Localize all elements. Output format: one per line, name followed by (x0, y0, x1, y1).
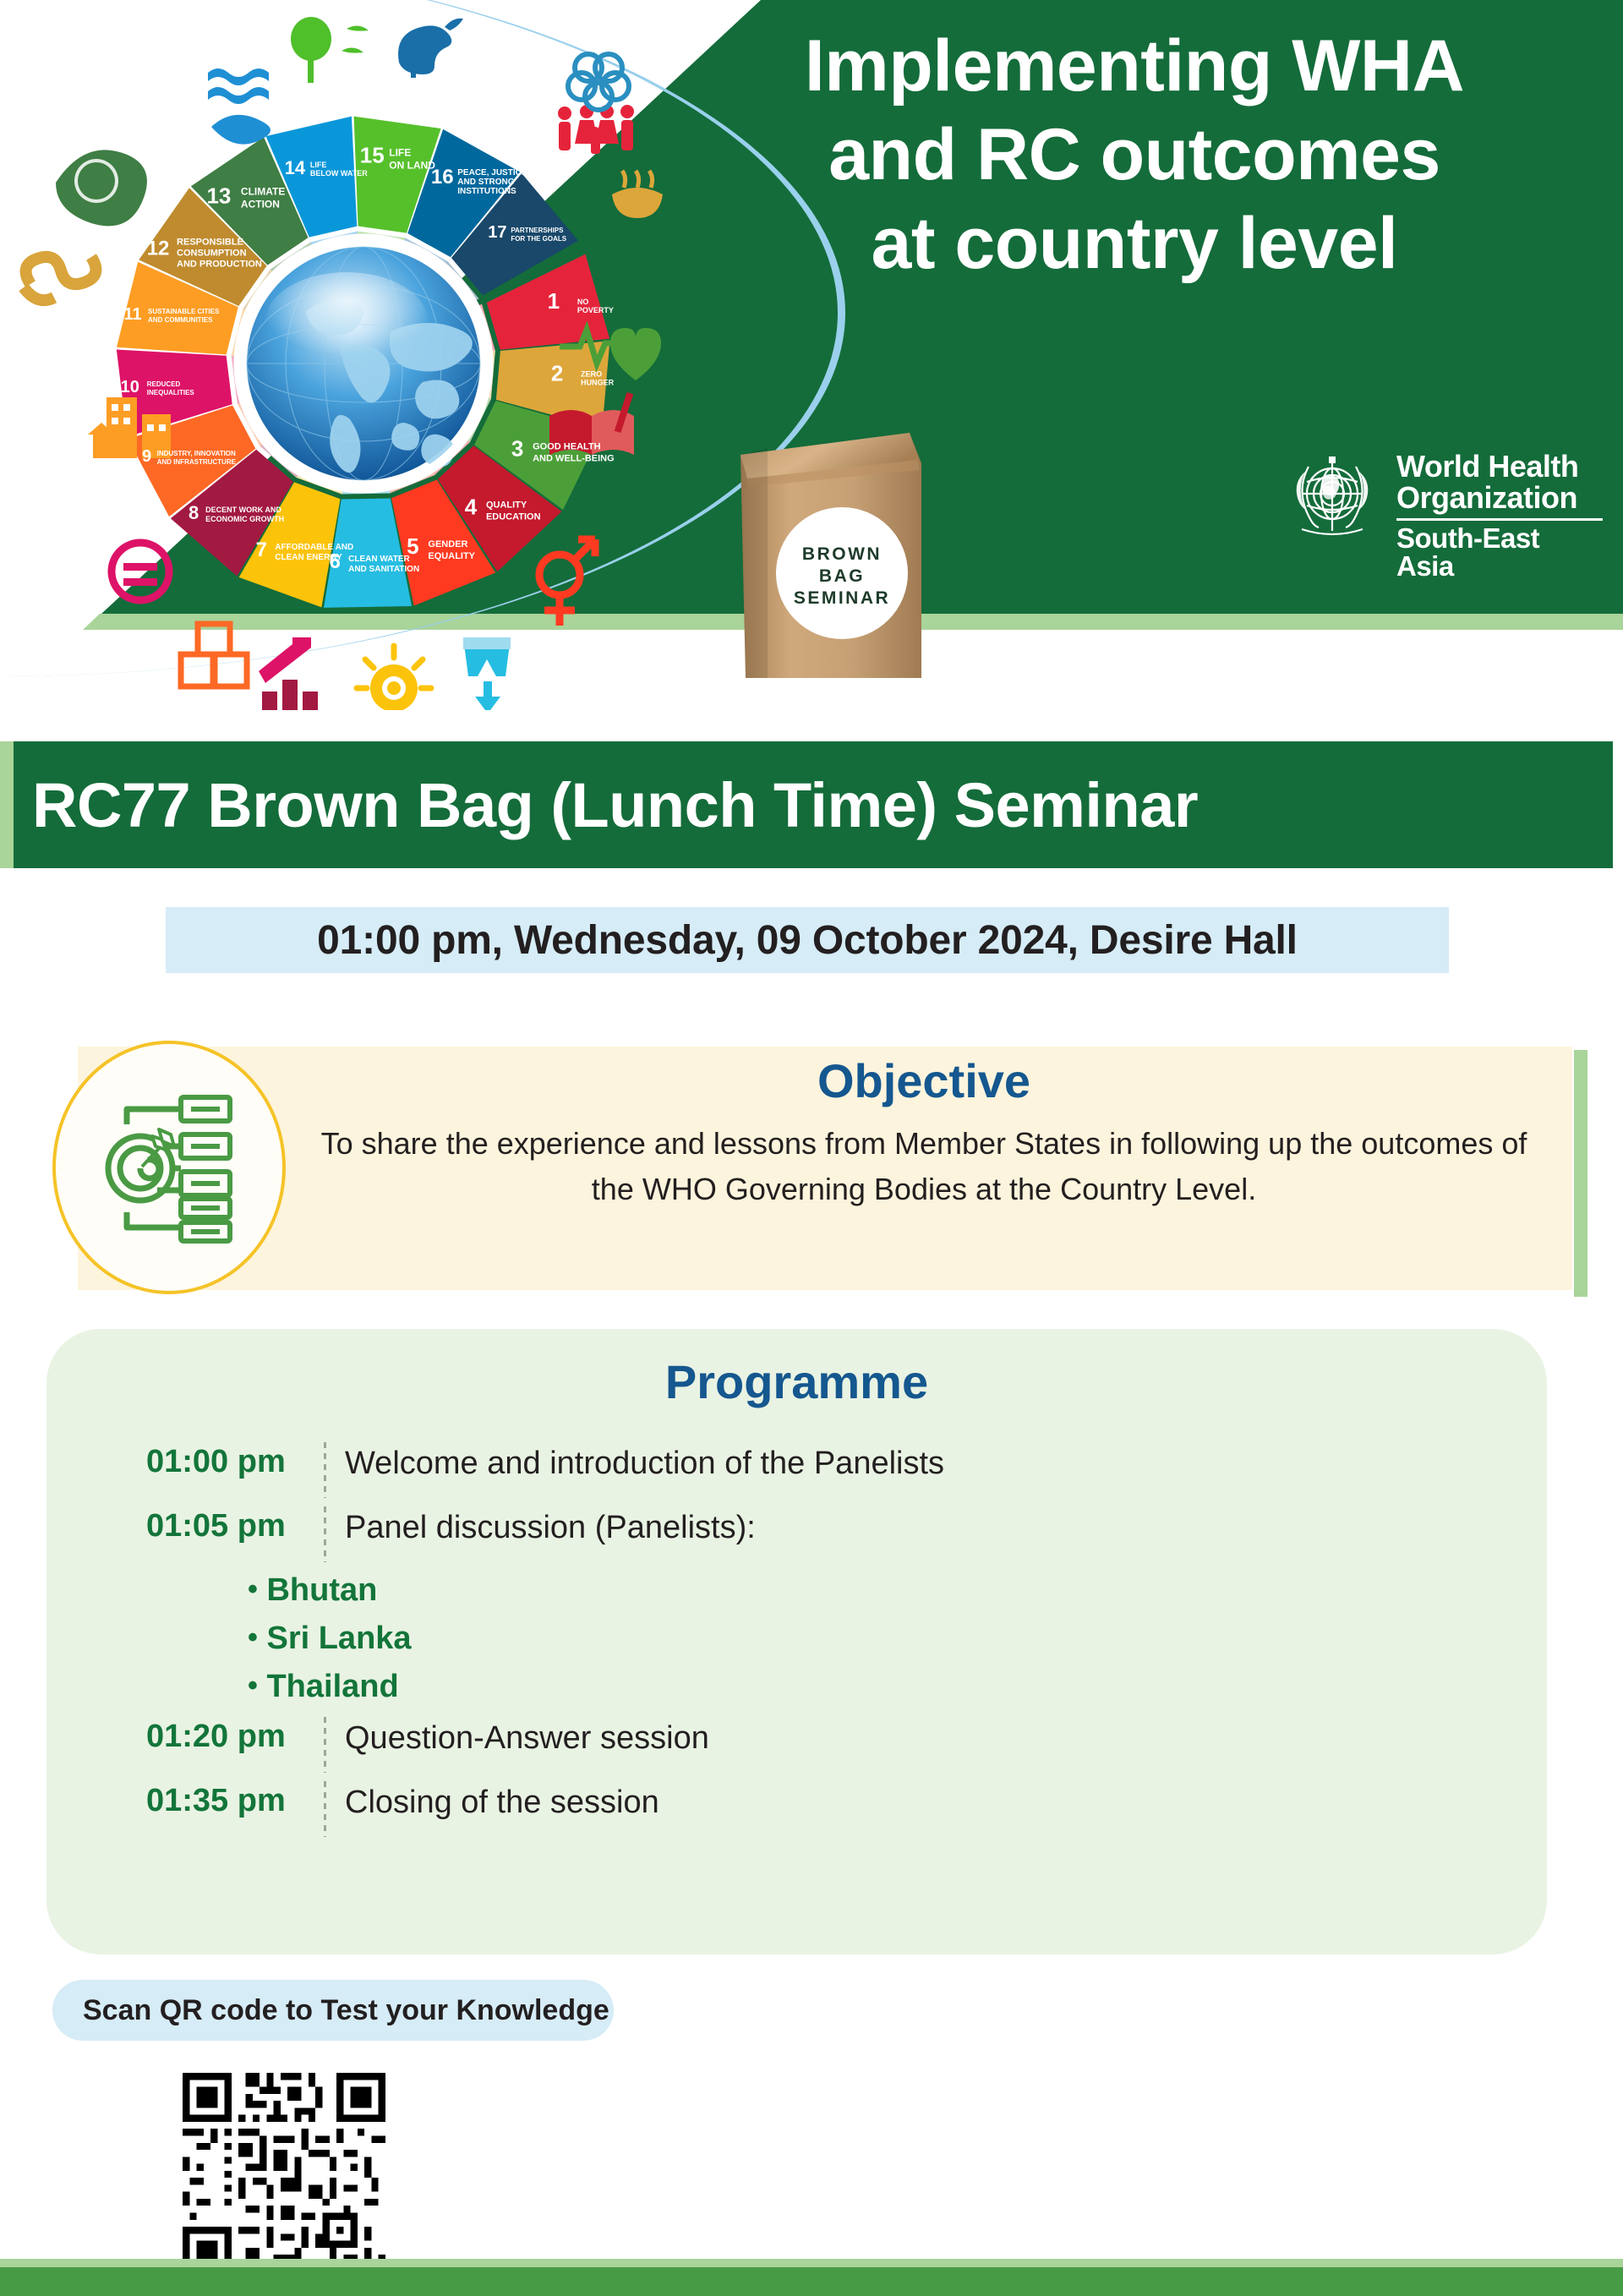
svg-text:4: 4 (465, 495, 478, 520)
who-line-2: Organization (1396, 482, 1603, 514)
svg-text:9: 9 (142, 447, 151, 466)
svg-text:ECONOMIC GROWTH: ECONOMIC GROWTH (205, 515, 284, 523)
brown-bag-line-1: BROWN (802, 544, 882, 564)
objective-content: Objective To share the experience and le… (303, 1052, 1545, 1212)
target-objective-icon (93, 1087, 245, 1248)
svg-text:FOR THE GOALS: FOR THE GOALS (511, 235, 566, 243)
svg-text:AND PRODUCTION: AND PRODUCTION (177, 259, 262, 269)
svg-text:INDUSTRY, INNOVATION: INDUSTRY, INNOVATION (157, 450, 236, 457)
page-title-line-1: Implementing WHA (686, 22, 1582, 111)
svg-text:ON LAND: ON LAND (389, 159, 435, 171)
svg-text:CLEAN WATER: CLEAN WATER (348, 555, 410, 564)
svg-text:ACTION: ACTION (241, 199, 280, 210)
seminar-banner: RC77 Brown Bag (Lunch Time) Seminar (0, 741, 1613, 868)
programme-row-time: 01:35 pm (146, 1781, 324, 1819)
svg-text:16: 16 (431, 166, 454, 189)
programme-row: 01:35 pm Closing of the session (146, 1781, 1499, 1837)
svg-text:ZERO: ZERO (581, 370, 602, 379)
who-divider (1396, 518, 1603, 521)
svg-text:RESPONSIBLE: RESPONSIBLE (177, 237, 243, 247)
svg-text:1: 1 (548, 288, 560, 314)
svg-text:11: 11 (123, 305, 141, 324)
programme-row-desc: Panel discussion (Panelists): (345, 1506, 756, 1549)
programme-row-time: 01:20 pm (146, 1717, 324, 1755)
sdg-wheel: 1NOPOVERTY 2ZEROHUNGER 3GOOD HEALTHAND W… (8, 0, 769, 710)
qr-instruction-text: Scan QR code to Test your Knowledge (83, 1994, 609, 2027)
panelist-name: Thailand (266, 1669, 398, 1704)
svg-text:15: 15 (360, 142, 385, 167)
programme-row-separator (324, 1506, 326, 1562)
svg-text:POVERTY: POVERTY (577, 306, 614, 314)
poster-header: 1NOPOVERTY 2ZEROHUNGER 3GOOD HEALTHAND W… (0, 0, 1623, 630)
svg-text:AND WELL-BEING: AND WELL-BEING (533, 453, 615, 463)
svg-text:PARTNERSHIPS: PARTNERSHIPS (511, 227, 564, 234)
svg-text:LIFE: LIFE (389, 146, 411, 158)
svg-text:QUALITY: QUALITY (486, 500, 527, 511)
svg-text:AND COMMUNITIES: AND COMMUNITIES (148, 316, 213, 324)
programme-row-time: 01:05 pm (146, 1506, 324, 1544)
svg-text:EDUCATION: EDUCATION (486, 512, 541, 522)
objective-icon-badge (52, 1041, 286, 1294)
svg-text:PEACE, JUSTICE: PEACE, JUSTICE (457, 168, 527, 178)
panelist-list: • Bhutan • Sri Lanka • Thailand (146, 1572, 1499, 1705)
programme-row-separator (324, 1442, 326, 1498)
programme-row: 01:05 pm Panel discussion (Panelists): (146, 1506, 1499, 1562)
who-emblem-icon (1281, 453, 1383, 546)
programme-panel: Programme 01:00 pm Welcome and introduct… (46, 1329, 1547, 1954)
svg-text:BELOW WATER: BELOW WATER (310, 169, 368, 178)
page-title: Implementing WHA and RC outcomes at coun… (686, 22, 1582, 288)
svg-text:2: 2 (551, 361, 563, 386)
panelist-name: Sri Lanka (266, 1621, 411, 1656)
programme-row-desc: Question-Answer session (345, 1717, 709, 1759)
footer-green-bar (0, 2267, 1623, 2296)
svg-text:LIFE: LIFE (310, 161, 327, 169)
brown-bag-image: BROWN BAG SEMINAR (708, 397, 962, 689)
svg-text:CONSUMPTION: CONSUMPTION (177, 248, 247, 258)
objective-title: Objective (303, 1052, 1545, 1109)
qr-code[interactable] (183, 2073, 385, 2276)
svg-text:REDUCED: REDUCED (147, 380, 181, 388)
svg-text:8: 8 (189, 502, 199, 523)
panelist-item: • Bhutan (248, 1572, 1499, 1609)
svg-text:GOOD HEALTH: GOOD HEALTH (533, 441, 601, 451)
sdg-wheel-svg: 1NOPOVERTY 2ZEROHUNGER 3GOOD HEALTHAND W… (8, 0, 769, 710)
seminar-banner-title: RC77 Brown Bag (Lunch Time) Seminar (14, 769, 1198, 841)
programme-row-separator (324, 1781, 326, 1837)
svg-text:EQUALITY: EQUALITY (428, 551, 475, 561)
svg-text:GENDER: GENDER (428, 539, 467, 549)
date-time-venue-strip: 01:00 pm, Wednesday, 09 October 2024, De… (166, 907, 1449, 973)
svg-text:CLIMATE: CLIMATE (241, 186, 285, 198)
svg-text:AND STRONG: AND STRONG (457, 178, 514, 187)
page-title-line-3: at country level (686, 200, 1582, 288)
svg-text:AND INFRASTRUCTURE: AND INFRASTRUCTURE (157, 458, 237, 466)
bullet-dot-icon: • (248, 1621, 258, 1654)
qr-code-image[interactable] (183, 2073, 385, 2276)
svg-text:HUNGER: HUNGER (581, 379, 615, 387)
objective-accent-bar (1574, 1050, 1587, 1297)
svg-text:7: 7 (256, 538, 267, 561)
svg-text:14: 14 (285, 157, 306, 178)
brown-bag-line-3: SEMINAR (794, 588, 890, 608)
svg-text:INEQUALITIES: INEQUALITIES (147, 389, 195, 396)
brown-bag-line-2: BAG (819, 566, 865, 586)
programme-row-desc: Closing of the session (345, 1781, 659, 1823)
svg-text:3: 3 (511, 435, 523, 461)
panelist-item: • Thailand (248, 1669, 1499, 1705)
panelist-item: • Sri Lanka (248, 1621, 1499, 1657)
svg-text:DECENT WORK AND: DECENT WORK AND (205, 506, 281, 514)
panelist-name: Bhutan (266, 1572, 377, 1608)
programme-row-time: 01:00 pm (146, 1442, 324, 1480)
programme-title: Programme (46, 1354, 1547, 1409)
programme-list: 01:00 pm Welcome and introduction of the… (146, 1442, 1499, 1845)
svg-text:10: 10 (121, 378, 139, 396)
svg-text:AFFORDABLE AND: AFFORDABLE AND (275, 543, 353, 552)
date-time-venue-text: 01:00 pm, Wednesday, 09 October 2024, De… (317, 917, 1298, 964)
svg-text:13: 13 (206, 183, 231, 209)
poster-root: 1NOPOVERTY 2ZEROHUNGER 3GOOD HEALTHAND W… (0, 0, 1623, 2296)
programme-row: 01:20 pm Question-Answer session (146, 1717, 1499, 1773)
footer-light-strip (0, 2259, 1623, 2267)
page-title-line-2: and RC outcomes (686, 111, 1582, 200)
svg-text:NO: NO (577, 298, 589, 306)
objective-text: To share the experience and lessons from… (303, 1121, 1545, 1212)
who-line-1: World Health (1396, 451, 1603, 482)
who-logo: World Health Organization South-East Asi… (1281, 451, 1603, 560)
who-region: South-East Asia (1396, 524, 1603, 580)
svg-text:17: 17 (488, 223, 506, 242)
programme-row-separator (324, 1717, 326, 1773)
qr-instruction-pill: Scan QR code to Test your Knowledge (52, 1980, 614, 2041)
programme-row-desc: Welcome and introduction of the Panelist… (345, 1442, 944, 1484)
sdg-globe-icon (238, 238, 489, 489)
svg-text:AND SANITATION: AND SANITATION (348, 565, 419, 574)
svg-text:INSTITUTIONS: INSTITUTIONS (457, 187, 516, 196)
svg-text:12: 12 (147, 237, 170, 260)
svg-text:CLEAN ENERGY: CLEAN ENERGY (275, 553, 342, 562)
bullet-dot-icon: • (248, 1670, 258, 1702)
programme-row: 01:00 pm Welcome and introduction of the… (146, 1442, 1499, 1498)
bullet-dot-icon: • (248, 1573, 258, 1605)
svg-text:SUSTAINABLE CITIES: SUSTAINABLE CITIES (148, 308, 220, 315)
